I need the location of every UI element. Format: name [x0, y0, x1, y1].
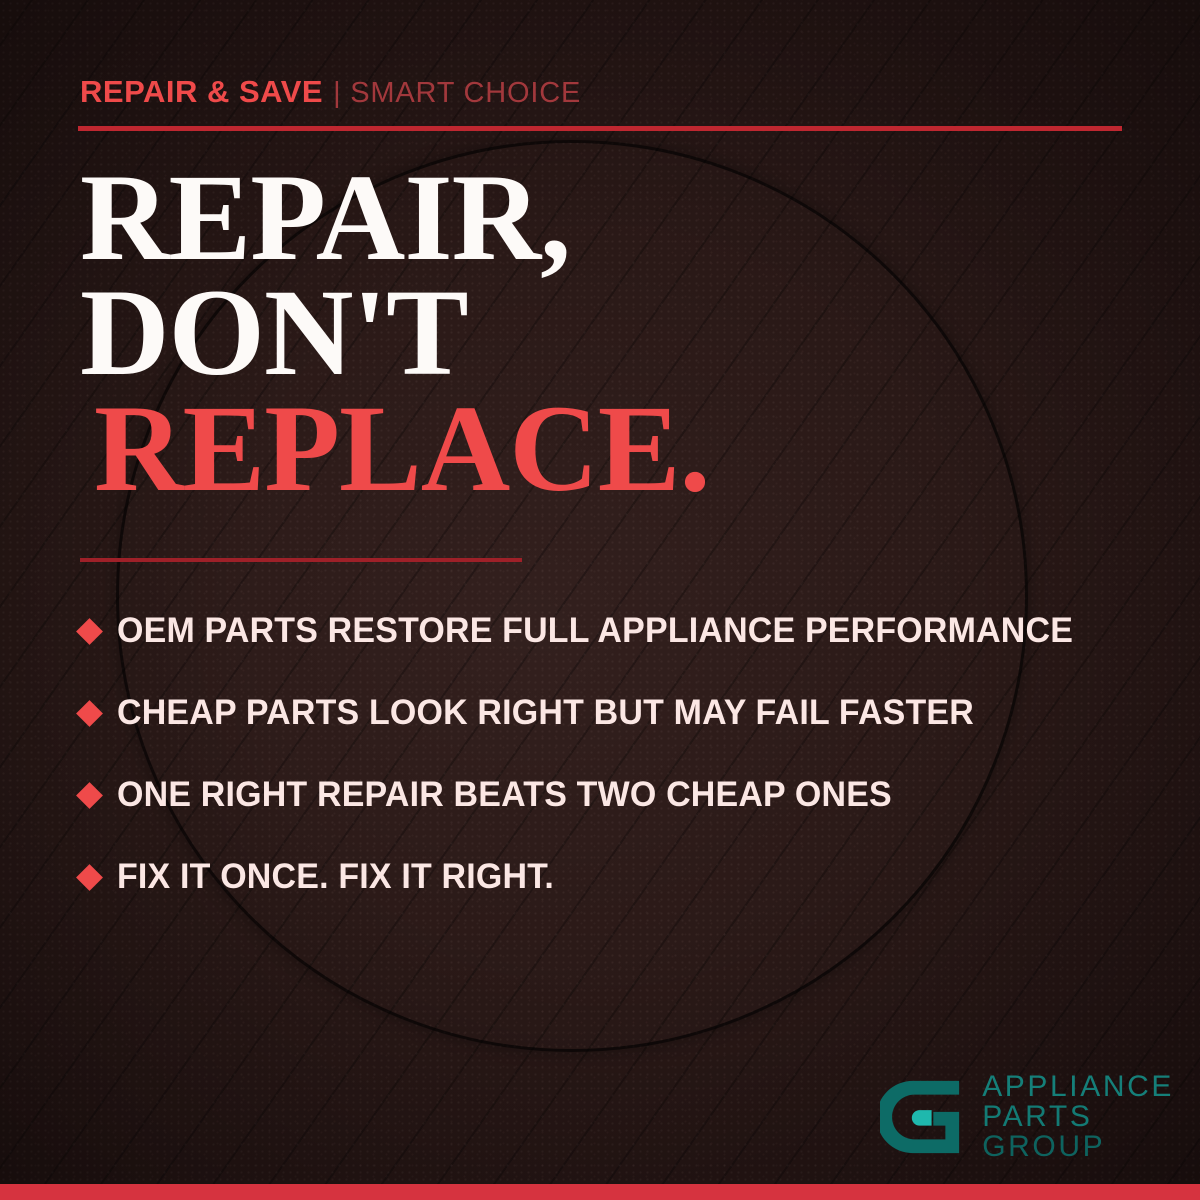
- brand-logo: APPLIANCE PARTS GROUP: [880, 1072, 1174, 1162]
- list-item: CHEAP PARTS LOOK RIGHT BUT MAY FAIL FAST…: [80, 672, 1160, 754]
- appliance-parts-group-g-icon: [880, 1074, 966, 1160]
- headline-line-1: REPAIR,: [80, 160, 1140, 275]
- headline-divider: [80, 558, 522, 562]
- bottom-accent-bar: [0, 1184, 1200, 1200]
- eyebrow-main-label: REPAIR & SAVE: [80, 74, 323, 110]
- list-item-label: FIX IT ONCE. FIX IT RIGHT.: [117, 857, 554, 897]
- headline-line-2: DON'T: [80, 275, 1140, 390]
- eyebrow-sub-label: | SMART CHOICE: [333, 77, 581, 110]
- list-item-label: OEM PARTS RESTORE FULL APPLIANCE PERFORM…: [117, 611, 1073, 651]
- logo-line-group: GROUP: [982, 1132, 1174, 1162]
- diamond-bullet-icon: [76, 618, 103, 645]
- poster-canvas: REPAIR & SAVE | SMART CHOICE REPAIR, DON…: [0, 0, 1200, 1200]
- logo-line-appliance: APPLIANCE: [982, 1072, 1174, 1102]
- list-item: FIX IT ONCE. FIX IT RIGHT.: [80, 836, 1160, 918]
- diamond-bullet-icon: [76, 700, 103, 727]
- logo-line-parts: PARTS: [982, 1102, 1174, 1132]
- eyebrow: REPAIR & SAVE | SMART CHOICE: [80, 74, 581, 110]
- header-divider: [78, 126, 1122, 131]
- list-item: OEM PARTS RESTORE FULL APPLIANCE PERFORM…: [80, 590, 1160, 672]
- diamond-bullet-icon: [76, 864, 103, 891]
- list-item: ONE RIGHT REPAIR BEATS TWO CHEAP ONES: [80, 754, 1160, 836]
- list-item-label: ONE RIGHT REPAIR BEATS TWO CHEAP ONES: [117, 775, 892, 815]
- benefit-list: OEM PARTS RESTORE FULL APPLIANCE PERFORM…: [80, 590, 1160, 918]
- brand-logo-wordmark: APPLIANCE PARTS GROUP: [982, 1072, 1174, 1162]
- list-item-label: CHEAP PARTS LOOK RIGHT BUT MAY FAIL FAST…: [117, 693, 974, 733]
- headline-line-3: REPLACE.: [80, 391, 1140, 506]
- diamond-bullet-icon: [76, 782, 103, 809]
- headline: REPAIR, DON'T REPLACE.: [80, 160, 1140, 506]
